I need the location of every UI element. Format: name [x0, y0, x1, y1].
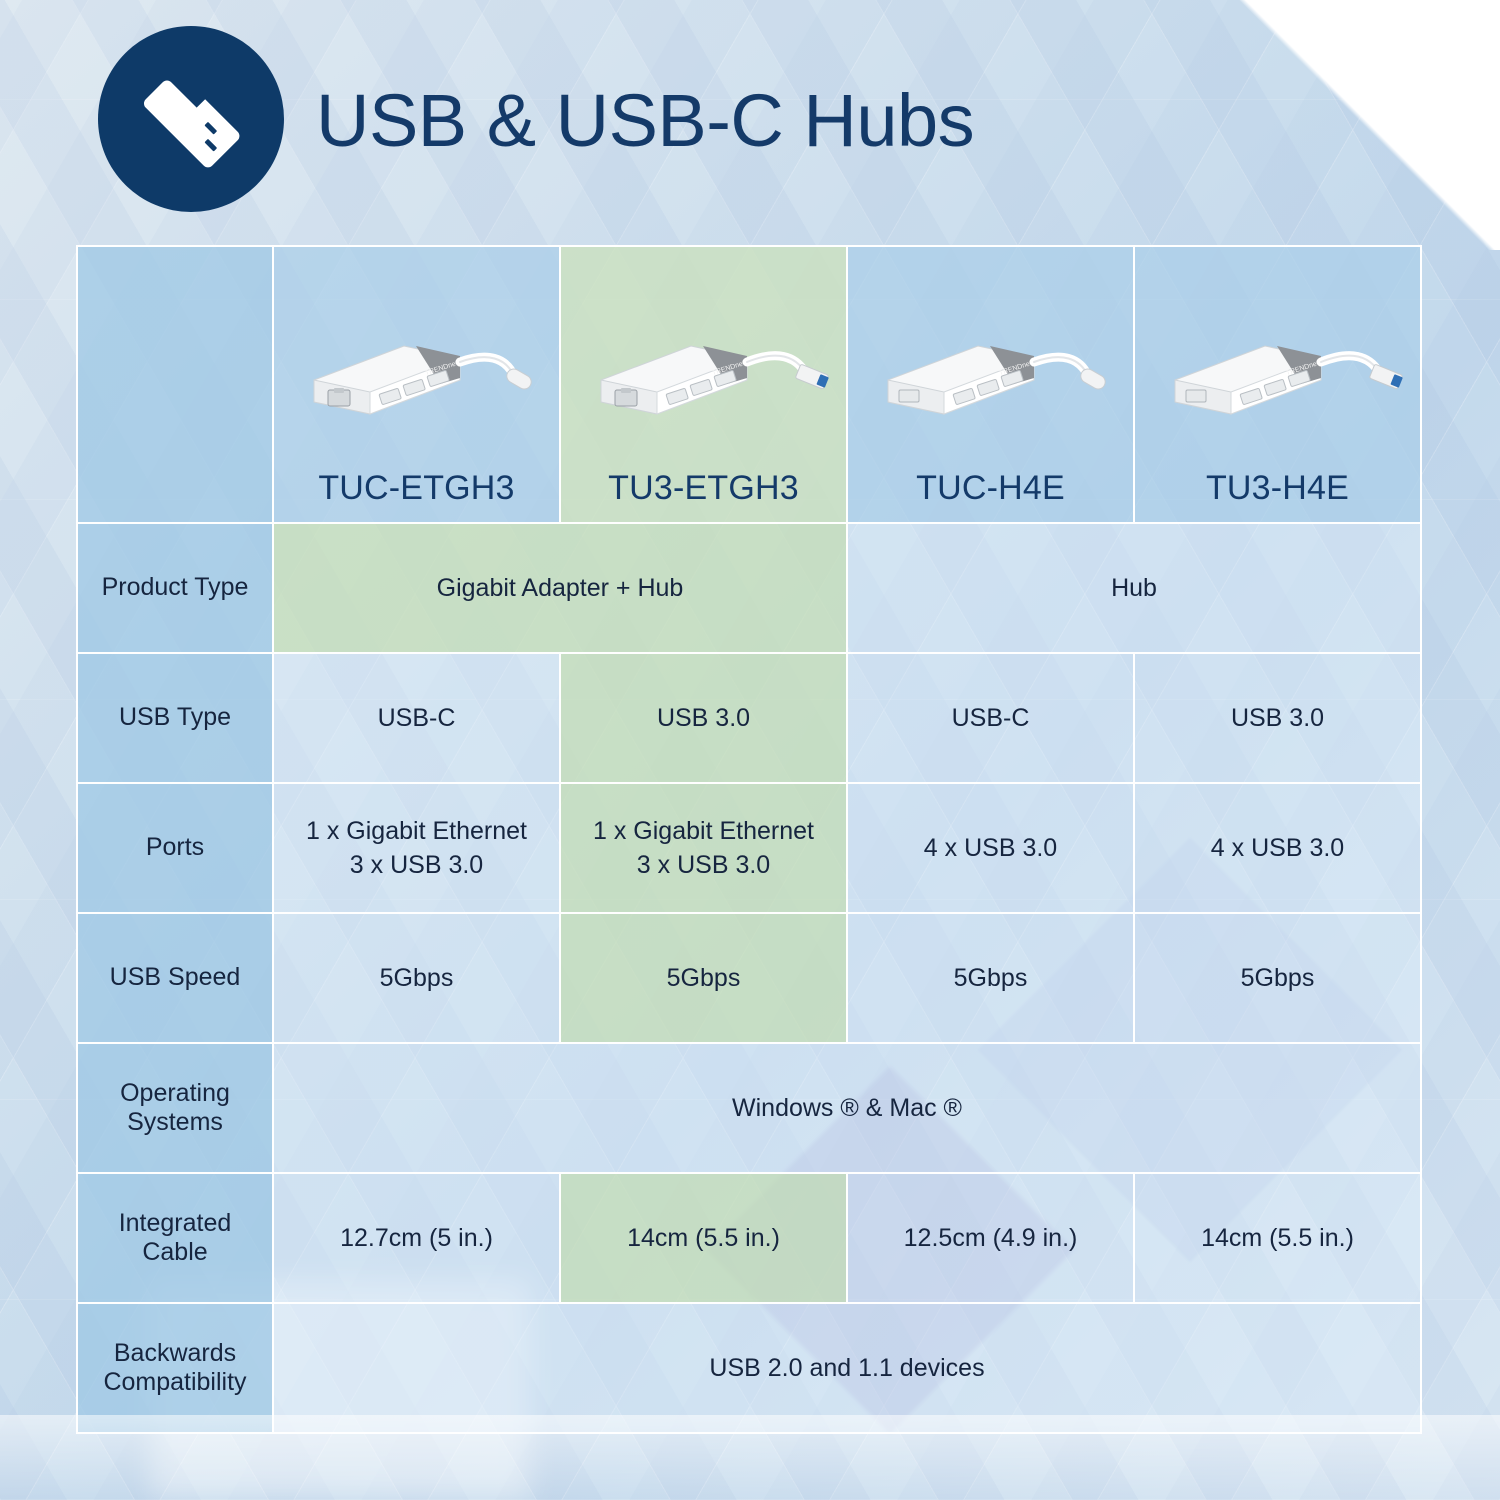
product-name-2: TU3-ETGH3 [608, 469, 799, 508]
row-label-integrated-cable: Integrated Cable [77, 1173, 273, 1303]
cell-ports-1-line1: 1 x Gigabit Ethernet [274, 814, 559, 849]
product-name-1: TUC-ETGH3 [318, 469, 514, 508]
table-row-usb-type: USB Type USB-C USB 3.0 USB-C USB 3.0 [77, 653, 1421, 783]
row-label-operating-systems-line2: Systems [78, 1108, 272, 1138]
cell-integrated-cable-1: 12.7cm (5 in.) [273, 1173, 560, 1303]
table-row-integrated-cable: Integrated Cable 12.7cm (5 in.) 14cm (5.… [77, 1173, 1421, 1303]
cell-usb-speed-3: 5Gbps [847, 913, 1134, 1043]
table-row-backwards-compatibility: Backwards Compatibility USB 2.0 and 1.1 … [77, 1303, 1421, 1433]
usb-hub-4port-usbc-icon: TRENDnet [866, 293, 1116, 463]
usb-hub-ethernet-usba-icon: TRENDnet [579, 293, 829, 463]
row-label-ports: Ports [77, 783, 273, 913]
cell-ports-2-line1: 1 x Gigabit Ethernet [561, 814, 846, 849]
cell-usb-speed-4: 5Gbps [1134, 913, 1421, 1043]
table-row-product-type: Product Type Gigabit Adapter + Hub Hub [77, 523, 1421, 653]
row-label-backwards-compatibility-line1: Backwards [78, 1339, 272, 1369]
row-label-backwards-compatibility: Backwards Compatibility [77, 1303, 273, 1433]
row-label-product-type: Product Type [77, 523, 273, 653]
cell-usb-type-4: USB 3.0 [1134, 653, 1421, 783]
table-row-usb-speed: USB Speed 5Gbps 5Gbps 5Gbps 5Gbps [77, 913, 1421, 1043]
cell-ports-1-line2: 3 x USB 3.0 [274, 848, 559, 883]
cell-usb-speed-2: 5Gbps [560, 913, 847, 1043]
product-cell-3[interactable]: TRENDnet TUC-H4E [847, 246, 1134, 523]
cell-ports-2-line2: 3 x USB 3.0 [561, 848, 846, 883]
product-cell-1[interactable]: TRENDnet TUC-ETGH3 [273, 246, 560, 523]
cell-operating-systems: Windows ® & Mac ® [273, 1043, 1421, 1173]
cell-integrated-cable-4: 14cm (5.5 in.) [1134, 1173, 1421, 1303]
product-cell-4[interactable]: TRENDnet [1134, 246, 1421, 523]
cell-product-type-1: Gigabit Adapter + Hub [273, 523, 847, 653]
cell-ports-1: 1 x Gigabit Ethernet 3 x USB 3.0 [273, 783, 560, 913]
cell-usb-type-2: USB 3.0 [560, 653, 847, 783]
page-header: USB & USB-C Hubs [0, 0, 1500, 235]
product-name-4: TU3-H4E [1206, 469, 1349, 508]
table-row-ports: Ports 1 x Gigabit Ethernet 3 x USB 3.0 1… [77, 783, 1421, 913]
table-row-products: TRENDnet TUC-ETGH3 [77, 246, 1421, 523]
cell-ports-3: 4 x USB 3.0 [847, 783, 1134, 913]
table-row-operating-systems: Operating Systems Windows ® & Mac ® [77, 1043, 1421, 1173]
cell-integrated-cable-2: 14cm (5.5 in.) [560, 1173, 847, 1303]
cell-ports-2: 1 x Gigabit Ethernet 3 x USB 3.0 [560, 783, 847, 913]
row-label-integrated-cable-line2: Cable [78, 1238, 272, 1268]
page-title: USB & USB-C Hubs [316, 78, 974, 163]
product-comparison-table: TRENDnet TUC-ETGH3 [76, 245, 1422, 1434]
row-label-operating-systems-line1: Operating [78, 1079, 272, 1109]
usb-hub-4port-usba-icon: TRENDnet [1153, 293, 1403, 463]
row-label-usb-type: USB Type [77, 653, 273, 783]
comparison-chart-page: USB & USB-C Hubs [0, 0, 1500, 1500]
cell-integrated-cable-3: 12.5cm (4.9 in.) [847, 1173, 1134, 1303]
usb-flash-drive-icon [131, 59, 251, 179]
row-label-operating-systems: Operating Systems [77, 1043, 273, 1173]
product-cell-2[interactable]: TRENDnet [560, 246, 847, 523]
product-name-3: TUC-H4E [916, 469, 1065, 508]
row-label-backwards-compatibility-line2: Compatibility [78, 1368, 272, 1398]
table-corner-cell [77, 246, 273, 523]
cell-product-type-2: Hub [847, 523, 1421, 653]
cell-usb-type-3: USB-C [847, 653, 1134, 783]
logo-badge [98, 26, 284, 212]
cell-usb-speed-1: 5Gbps [273, 913, 560, 1043]
usb-hub-ethernet-usbc-icon: TRENDnet [292, 293, 542, 463]
cell-backwards-compatibility: USB 2.0 and 1.1 devices [273, 1303, 1421, 1433]
cell-ports-4: 4 x USB 3.0 [1134, 783, 1421, 913]
cell-usb-type-1: USB-C [273, 653, 560, 783]
row-label-usb-speed: USB Speed [77, 913, 273, 1043]
row-label-integrated-cable-line1: Integrated [78, 1209, 272, 1239]
